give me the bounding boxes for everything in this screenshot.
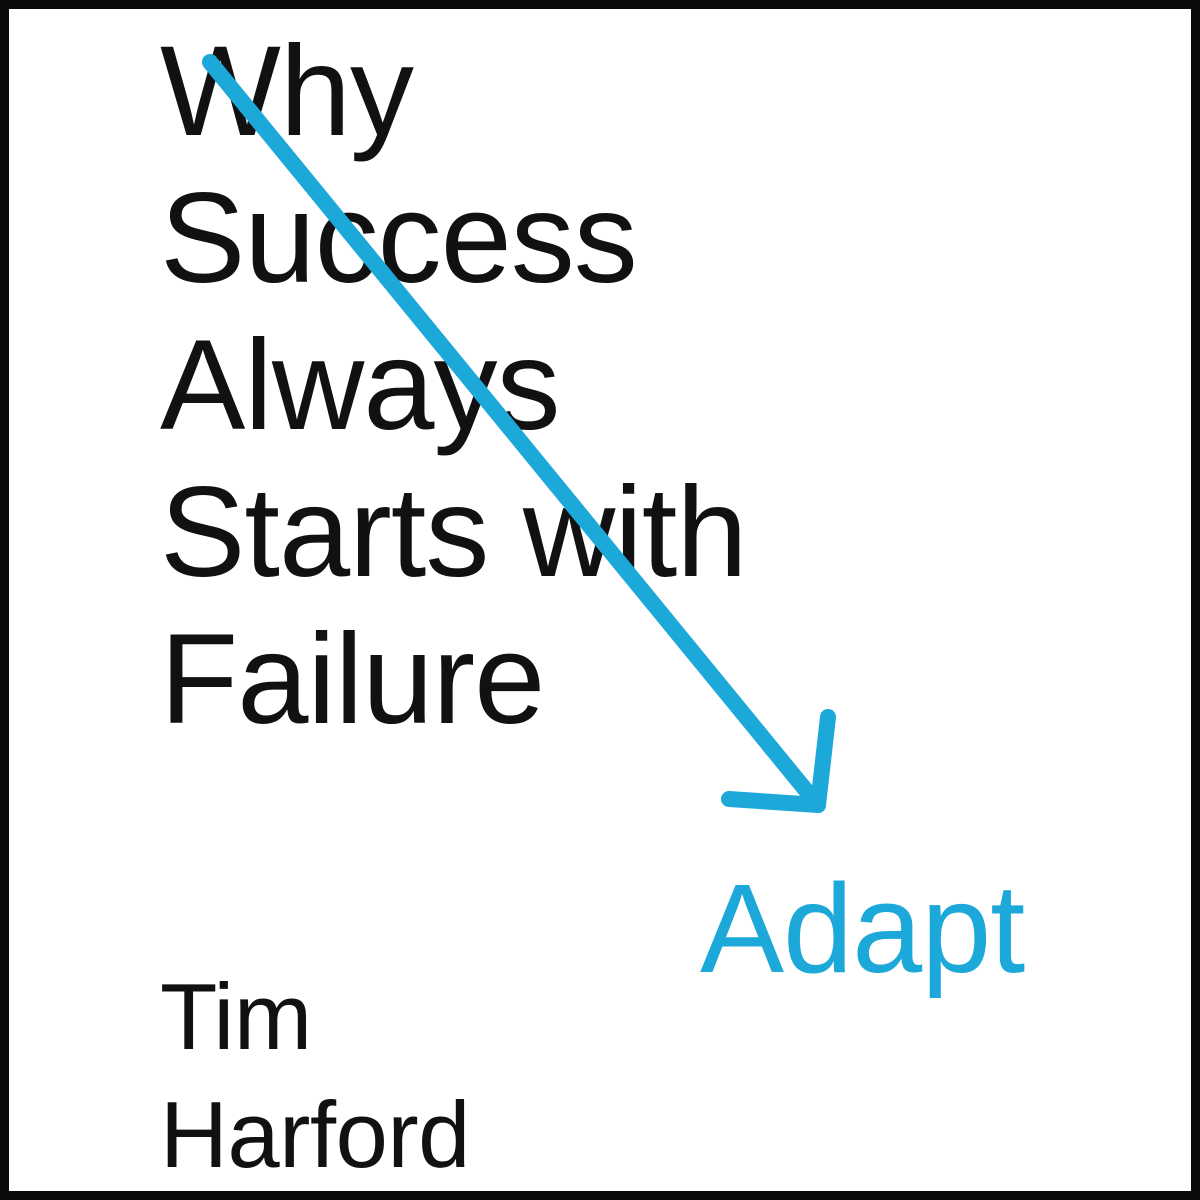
- arrow-barb-horizontal: [729, 799, 818, 805]
- book-title: Why Success Always Starts with Failure: [160, 0, 747, 753]
- title-line-4: Starts with: [160, 459, 747, 606]
- author-name: Tim Harford: [160, 958, 470, 1194]
- title-line-5: Failure: [160, 606, 747, 753]
- book-cover: Why Success Always Starts with Failure A…: [0, 0, 1200, 1200]
- series-word-adapt: Adapt: [700, 866, 1024, 992]
- title-line-1: Why: [160, 18, 747, 165]
- author-line-last: Harford: [160, 1076, 470, 1194]
- title-line-2: Success: [160, 165, 747, 312]
- author-line-first: Tim: [160, 958, 470, 1076]
- arrow-barb-vertical: [818, 717, 828, 805]
- title-line-3: Always: [160, 312, 747, 459]
